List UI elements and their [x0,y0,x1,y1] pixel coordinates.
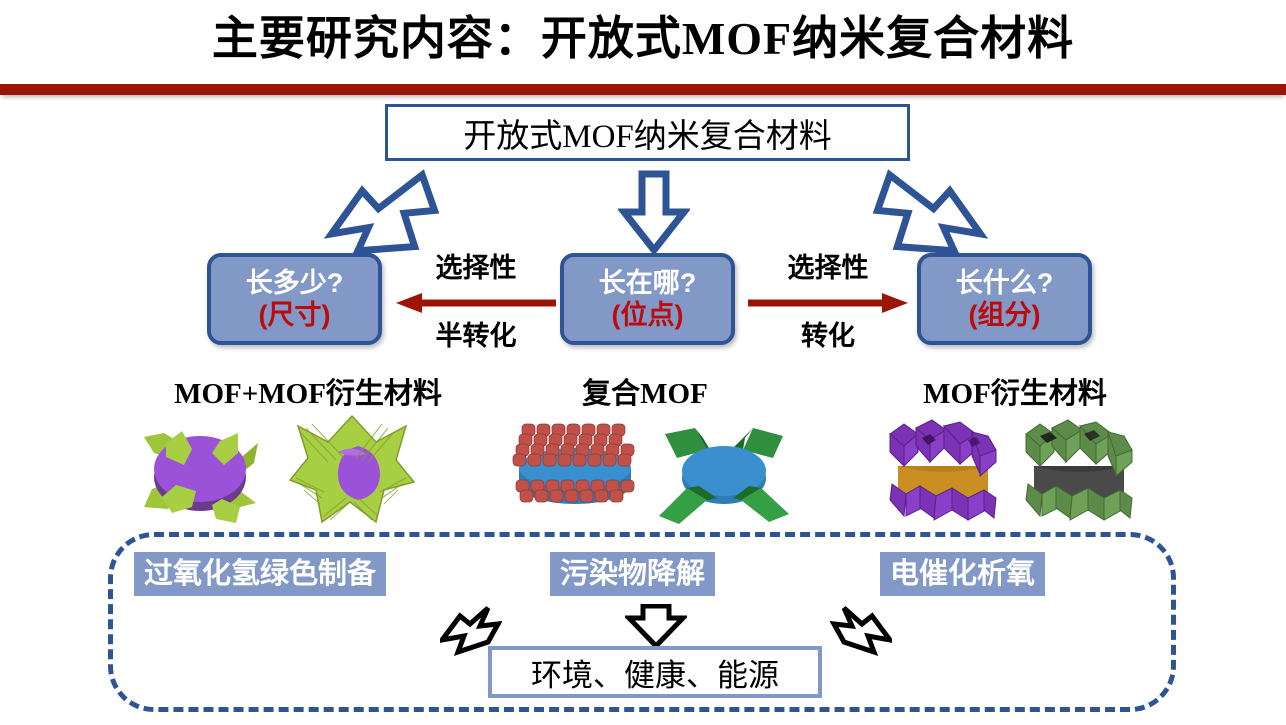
question-box-composition[interactable]: 长什么? (组分) [917,253,1092,345]
question-box-size-line2: (尺寸) [259,299,331,331]
illustration-derived-purple [884,418,1002,526]
title-divider-rule [0,84,1286,95]
connector-left-top-label: 选择性 [390,246,562,285]
converge-arrow-right-icon [830,606,892,660]
category-label-right: MOF衍生材料 [845,370,1185,412]
question-box-site[interactable]: 长在哪? (位点) [560,253,735,345]
outcome-box-label: 环境、健康、能源 [531,650,779,695]
illustration-derived-green [1020,418,1138,526]
category-label-left: MOF+MOF衍生材料 [118,370,498,412]
red-arrow-left-icon [394,292,558,314]
application-badge-oer[interactable]: 电催化析氧 [880,552,1045,596]
illustration-composite-green-blocks [655,424,793,524]
question-box-size-line1: 长多少? [246,267,344,299]
header-box: 开放式MOF纳米复合材料 [385,104,910,161]
illustration-mof-green-shell [288,412,418,527]
connector-left: 选择性 半转化 [390,248,562,360]
question-box-size[interactable]: 长多少? (尺寸) [207,253,382,345]
page-title: 主要研究内容：开放式MOF纳米复合材料 [0,8,1286,70]
red-arrow-right-icon [746,292,910,314]
connector-right: 选择性 转化 [742,248,914,360]
slide-canvas: 主要研究内容：开放式MOF纳米复合材料 开放式MOF纳米复合材料 长多少? (尺… [0,0,1286,725]
question-box-composition-line1: 长什么? [956,267,1054,299]
application-badge-peroxide[interactable]: 过氧化氢绿色制备 [134,552,386,596]
converge-arrow-center-icon [625,604,687,650]
illustration-mof-purple-core [136,415,266,525]
outcome-box: 环境、健康、能源 [488,646,822,698]
branch-arrow-center-icon [618,170,690,256]
category-label-center: 复合MOF [480,370,810,412]
question-box-composition-line2: (组分) [969,299,1041,331]
connector-right-top-label: 选择性 [742,246,914,285]
header-box-label: 开放式MOF纳米复合材料 [463,109,832,157]
question-box-site-line1: 长在哪? [599,267,697,299]
question-box-site-line2: (位点) [612,299,684,331]
illustration-composite-red-stack [510,418,640,526]
application-badge-pollutant[interactable]: 污染物降解 [550,552,715,596]
connector-left-bottom-label: 半转化 [390,314,562,353]
connector-right-bottom-label: 转化 [742,314,914,353]
